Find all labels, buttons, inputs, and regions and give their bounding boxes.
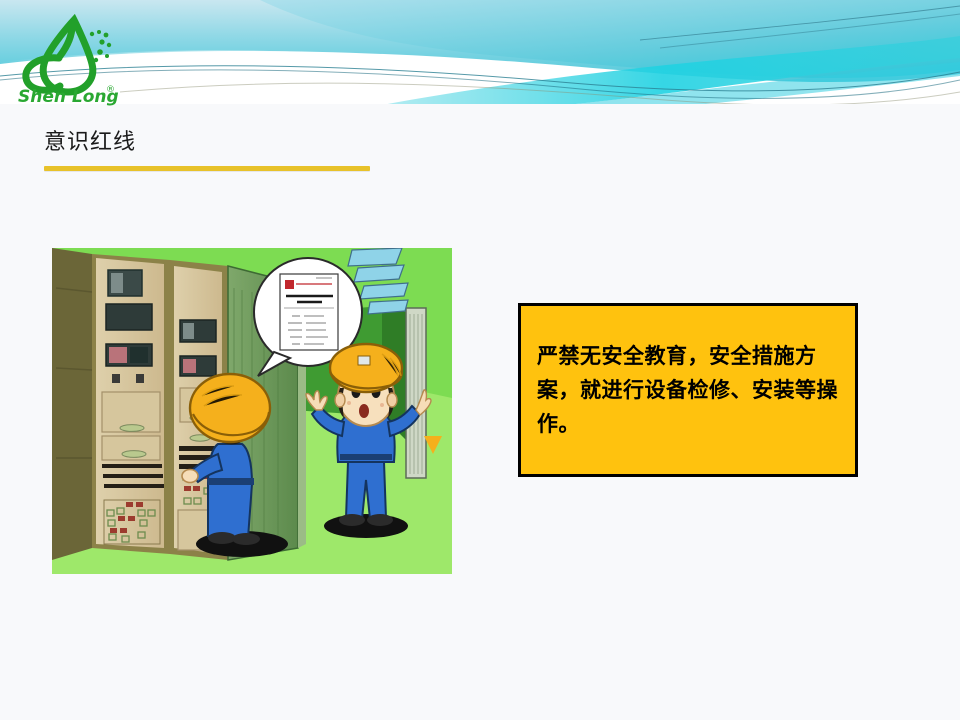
worker-a-belt [208, 478, 254, 485]
title-underline [44, 166, 370, 171]
page-title: 意识红线 [44, 128, 374, 158]
logo-registered-icon: ® [106, 85, 115, 95]
company-logo: Shen Long ® [14, 12, 126, 108]
logo-wordmark: Shen Long [18, 87, 119, 107]
worker-a-hand [182, 470, 198, 483]
permit-document [280, 274, 338, 350]
worker-b-shadow [324, 514, 408, 538]
cabinet-left [92, 254, 170, 554]
safety-illustration [52, 248, 452, 574]
worker-a-helmet [190, 374, 270, 442]
logo-drop-icon [26, 20, 93, 92]
header-banner [0, 0, 960, 122]
illus-left-wall [52, 248, 92, 560]
worker-b-belt [340, 454, 392, 460]
worker-b-helmet-badge [358, 356, 370, 365]
page-title-block: 意识红线 [44, 128, 374, 171]
worker-b-mouth [359, 404, 369, 418]
document-stamp-icon [285, 280, 294, 289]
slide-canvas: Shen Long ® 意识红线 [0, 0, 960, 720]
warning-callout-text: 严禁无安全教育，安全措施方案，就进行设备检修、安装等操作。 [521, 339, 855, 441]
banner-bottom-fade [0, 104, 960, 122]
warning-callout-box: 严禁无安全教育，安全措施方案，就进行设备检修、安装等操作。 [518, 303, 858, 477]
